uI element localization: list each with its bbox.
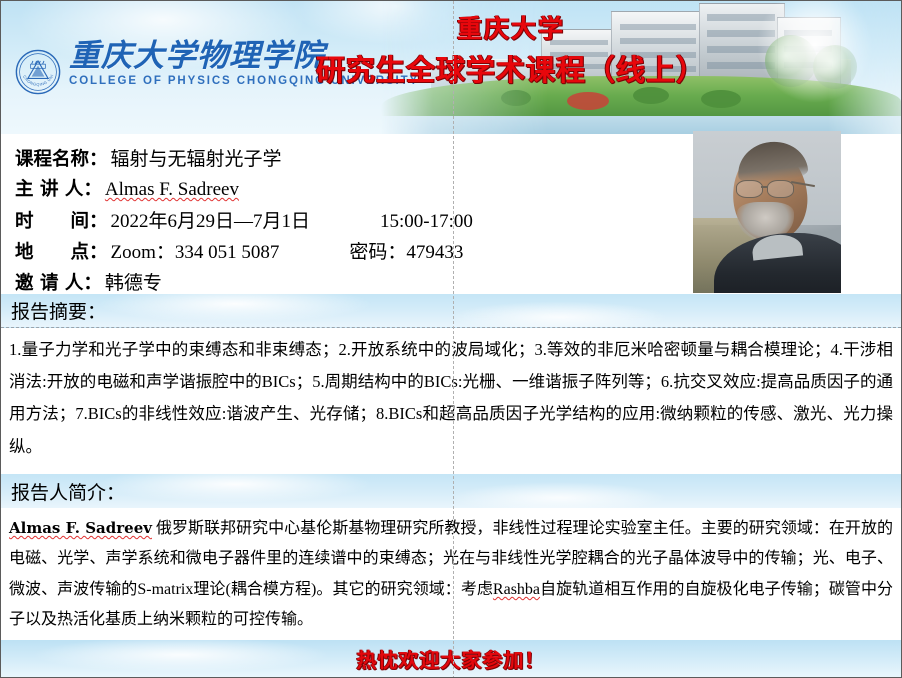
label-speaker: 主 讲 人：	[15, 175, 102, 201]
value-date: 2022年6月29日—7月1日	[111, 206, 311, 233]
bio-highlight-rashba: Rashba	[493, 581, 540, 598]
label-time: 时 间：	[15, 207, 108, 233]
bio-speaker-name: Almas F. Sadreev	[9, 519, 152, 537]
campus-shrub	[701, 90, 741, 108]
bio-text: Almas F. Sadreev 俄罗斯联邦研究中心基伦斯基物理研究所教授，非线…	[1, 508, 901, 650]
abstract-text: 1.量子力学和光子学中的束缚态和非束缚态；2.开放系统中的波局域化；3.等效的非…	[1, 328, 901, 474]
chongqing-university-seal-icon: CHONGQING UNIVERSITY	[15, 49, 61, 95]
speaker-photo	[693, 131, 841, 293]
value-course-name: 辐射与无辐射光子学	[111, 144, 282, 171]
footer-welcome-text: 热忱欢迎大家参加！	[357, 644, 546, 673]
value-speaker: Almas F. Sadreev	[105, 179, 239, 201]
bio-heading: 报告人简介：	[11, 478, 125, 505]
campus-shrub	[501, 90, 531, 106]
value-zoom-id: Zoom：334 051 5087	[111, 237, 280, 264]
campus-shrub	[567, 92, 609, 110]
svg-text:CHONGQING UNIVERSITY: CHONGQING UNIVERSITY	[15, 49, 55, 87]
label-host: 邀 请 人：	[15, 269, 102, 295]
eyeglasses-icon	[736, 180, 763, 198]
label-course-name: 课程名称：	[15, 145, 108, 171]
title-line-2: 研究生全球学术课程（线上）	[301, 55, 721, 87]
poster-title: 重庆大学 研究生全球学术课程（线上）	[301, 15, 721, 86]
value-host: 韩德专	[105, 268, 162, 295]
value-time-range: 15:00-17:00	[380, 211, 473, 233]
seminar-poster: CHONGQING UNIVERSITY 重庆大学物理学院 COLLEGE OF…	[0, 0, 902, 678]
label-location: 地 点：	[15, 238, 108, 264]
title-line-1: 重庆大学	[301, 15, 721, 43]
value-zoom-passcode: 密码：479433	[349, 237, 463, 264]
poster-footer: 热忱欢迎大家参加！	[1, 640, 901, 677]
abstract-heading: 报告摘要：	[11, 297, 106, 324]
bio-heading-band: 报告人简介：	[1, 474, 901, 508]
course-info-block: 课程名称： 辐射与无辐射光子学 主 讲 人： Almas F. Sadreev …	[1, 134, 901, 294]
poster-header: CHONGQING UNIVERSITY 重庆大学物理学院 COLLEGE OF…	[1, 1, 901, 134]
abstract-heading-band: 报告摘要：	[1, 294, 901, 328]
campus-shrub	[633, 87, 669, 104]
